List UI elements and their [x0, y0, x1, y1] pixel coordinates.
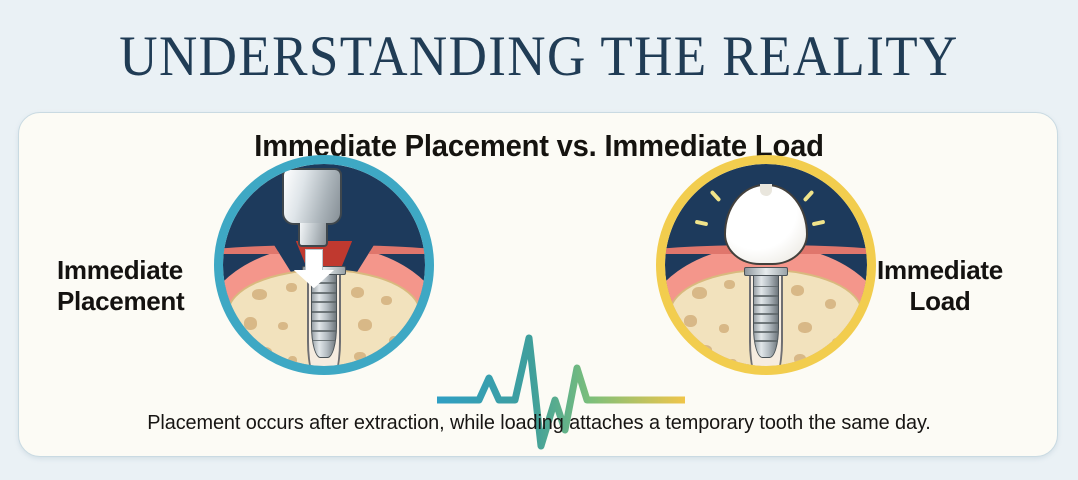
page-title: UNDERSTANDING THE REALITY — [38, 26, 1041, 88]
placement-ring — [214, 155, 434, 375]
card-caption: Placement occurs after extraction, while… — [35, 411, 1044, 435]
load-ring — [656, 155, 876, 375]
immediate-placement-diagram — [214, 155, 434, 375]
immediate-load-diagram — [656, 155, 876, 375]
infographic-card: Immediate Placement vs. Immediate Load I… — [18, 112, 1058, 457]
card-heading: Immediate Placement vs. Immediate Load — [50, 128, 1028, 164]
pulse-waveform — [437, 318, 685, 457]
bone-pore — [381, 365, 390, 366]
label-immediate-placement: Immediate Placement — [57, 255, 237, 317]
